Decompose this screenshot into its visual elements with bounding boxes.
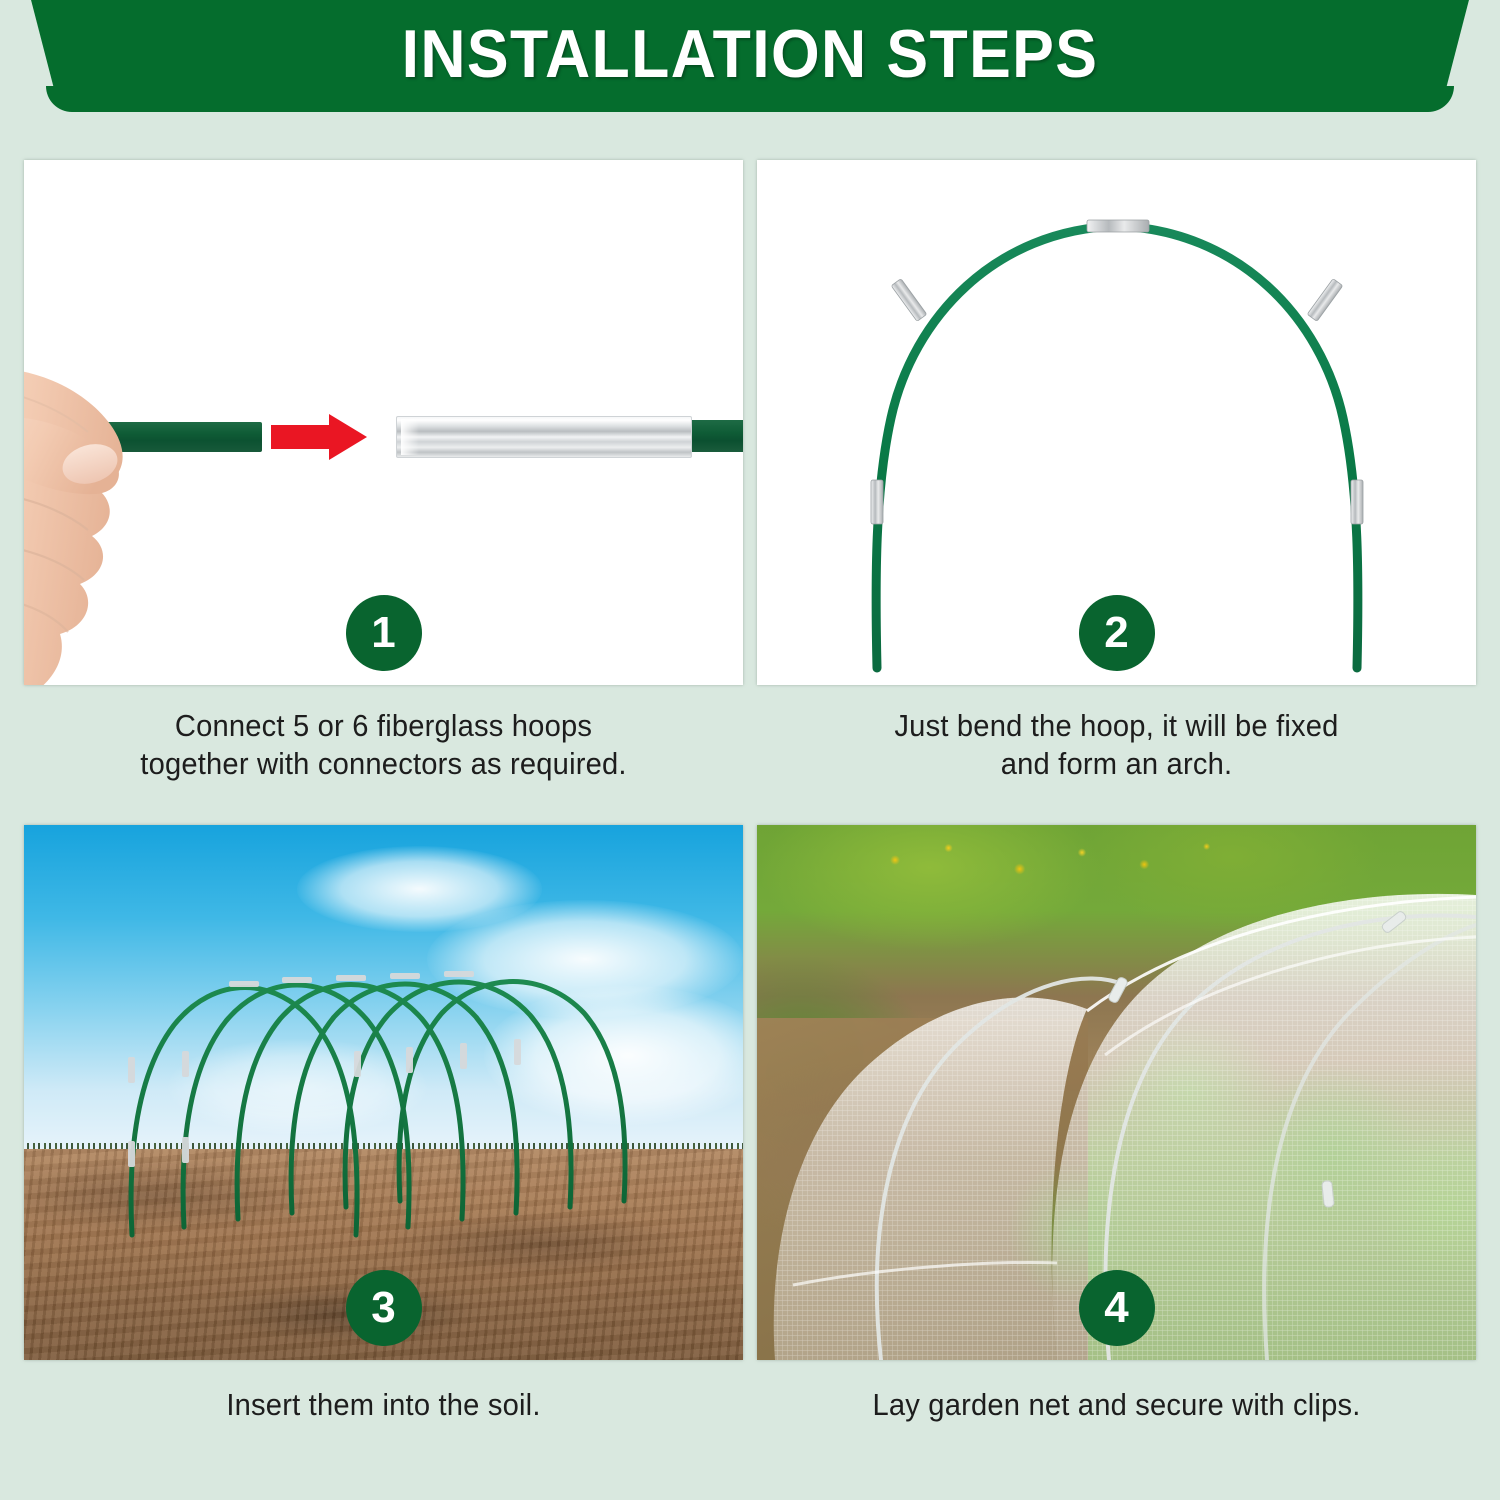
steps-grid: 1 <box>24 160 1476 1450</box>
step-1-panel: 1 <box>24 160 743 685</box>
metal-connector-sleeve <box>396 416 692 458</box>
step-4-panel: 4 <box>757 825 1476 1360</box>
step-4-caption-line-1: Lay garden net and secure with clips. <box>779 1386 1455 1424</box>
hand-icon <box>24 360 179 685</box>
step-2-caption: Just bend the hoop, it will be fixed and… <box>779 685 1455 825</box>
step-2-badge: 2 <box>1079 595 1155 671</box>
step-3-badge: 3 <box>346 1270 422 1346</box>
red-arrow-icon <box>271 414 367 460</box>
step-2-panel: 2 <box>757 160 1476 685</box>
step-1-caption: Connect 5 or 6 fiberglass hoops together… <box>46 685 722 825</box>
header-banner: INSTALLATION STEPS <box>0 0 1500 112</box>
step-3-caption-line-1: Insert them into the soil. <box>46 1386 722 1424</box>
step-1-caption-line-2: together with connectors as required. <box>46 745 722 783</box>
step-3-panel: 3 <box>24 825 743 1360</box>
step-2-caption-line-2: and form an arch. <box>779 745 1455 783</box>
step-1-badge: 1 <box>346 595 422 671</box>
step-2-caption-line-1: Just bend the hoop, it will be fixed <box>779 707 1455 745</box>
step-4-badge: 4 <box>1079 1270 1155 1346</box>
page-title: INSTALLATION STEPS <box>60 0 1440 108</box>
step-4-caption: Lay garden net and secure with clips. <box>779 1360 1455 1450</box>
step-3-caption: Insert them into the soil. <box>46 1360 722 1450</box>
step-1-caption-line-1: Connect 5 or 6 fiberglass hoops <box>46 707 722 745</box>
